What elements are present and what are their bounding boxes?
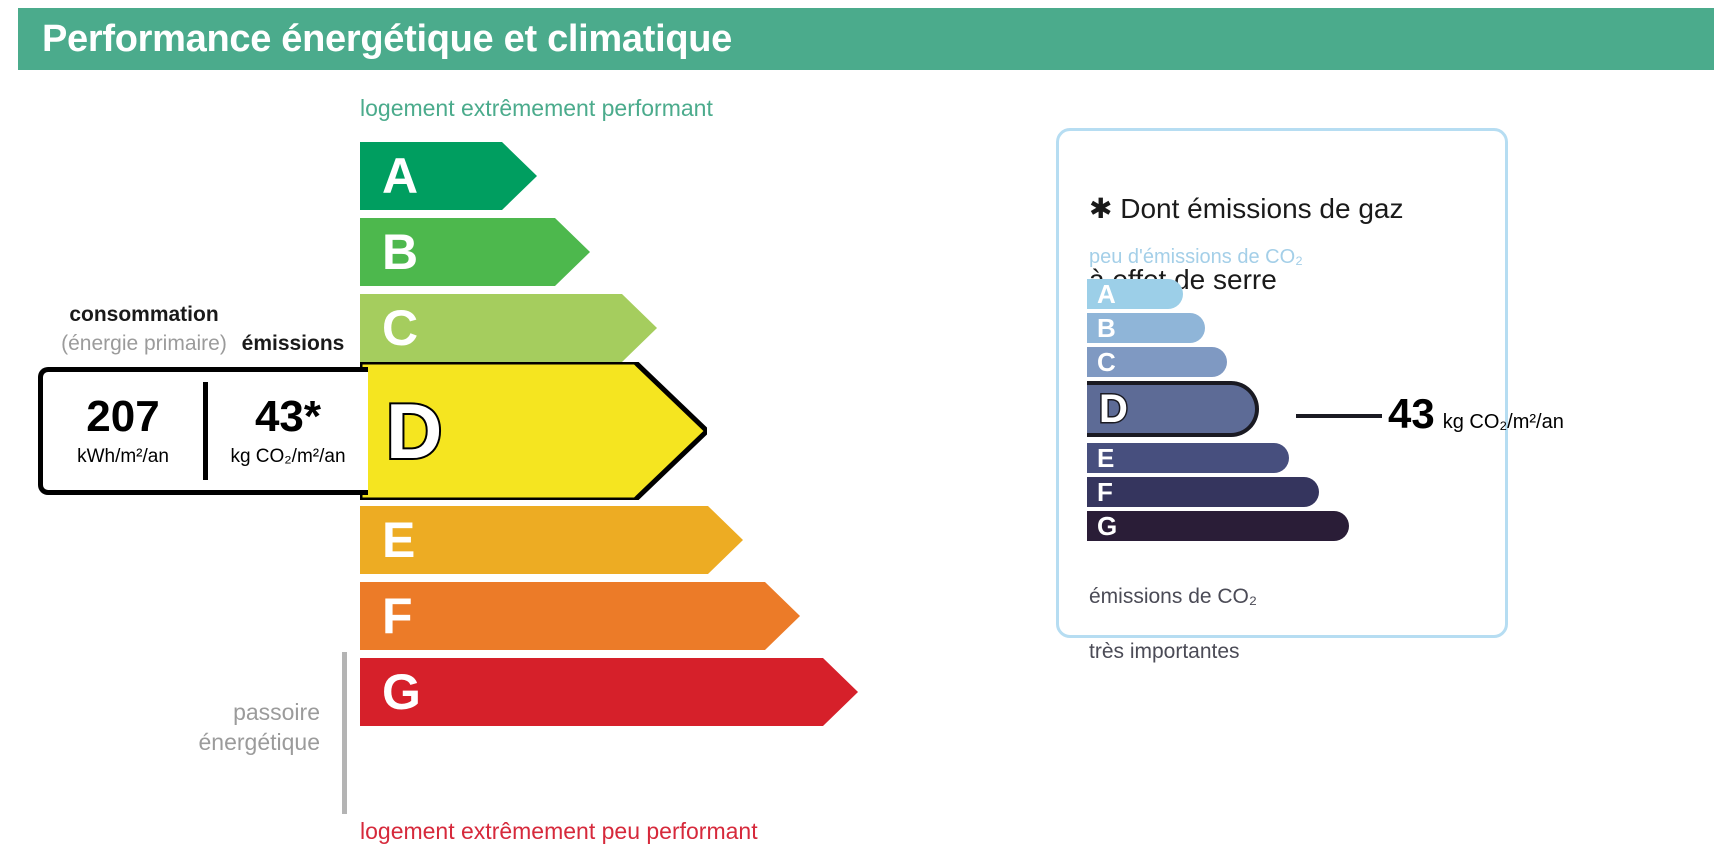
co2-bar-letter-c: C <box>1097 349 1116 375</box>
consumption-unit: kWh/m²/an <box>77 446 169 468</box>
energy-arrow-shape-e <box>360 506 743 574</box>
co2-bar-e[interactable]: E <box>1087 443 1289 473</box>
emission-value-cell: 43* kg CO₂/m²/an <box>208 372 368 490</box>
energy-bar-letter-e: E <box>382 515 415 565</box>
co2-bottom-caption-line2: très importantes <box>1089 638 1257 665</box>
co2-bar-letter-d: D <box>1099 389 1128 429</box>
energy-bar-g[interactable]: G <box>360 658 858 726</box>
passoire-bracket <box>342 652 347 814</box>
energy-bar-a[interactable]: A <box>360 142 537 210</box>
co2-bar-f[interactable]: F <box>1087 477 1319 507</box>
energy-arrow-shape-g <box>360 658 858 726</box>
energy-bar-letter-d: D <box>386 392 442 470</box>
consumption-value: 207 <box>86 394 159 440</box>
passoire-label-line2: énergétique <box>120 728 320 758</box>
co2-bar-letter-e: E <box>1097 445 1114 471</box>
scale-top-caption: logement extrêmement performant <box>360 95 713 122</box>
energy-bar-letter-a: A <box>382 151 418 201</box>
co2-bar-c[interactable]: C <box>1087 347 1227 377</box>
co2-callout-number: 43 <box>1388 390 1435 438</box>
co2-bar-a[interactable]: A <box>1087 279 1183 309</box>
value-readout-box: 207 kWh/m²/an 43* kg CO₂/m²/an <box>38 367 368 495</box>
consumption-value-cell: 207 kWh/m²/an <box>43 372 203 490</box>
passoire-label: passoire énergétique <box>120 698 320 758</box>
co2-bar-letter-g: G <box>1097 513 1117 539</box>
emission-unit: kg CO₂/m²/an <box>230 446 345 468</box>
co2-bar-g[interactable]: G <box>1087 511 1349 541</box>
co2-bottom-caption: émissions de CO₂ très importantes <box>1089 556 1257 692</box>
energy-arrow-shape-f <box>360 582 800 650</box>
energy-bar-d-selected[interactable]: D <box>360 362 707 500</box>
co2-bar-letter-f: F <box>1097 479 1113 505</box>
page-header: Performance énergétique et climatique <box>18 8 1714 70</box>
co2-callout: 43 kg CO₂/m²/an <box>1388 390 1564 438</box>
consumption-label: consommation <box>46 303 242 327</box>
co2-bar-letter-b: B <box>1097 315 1116 341</box>
energy-bar-b[interactable]: B <box>360 218 590 286</box>
emission-value: 43* <box>255 394 321 440</box>
energy-bar-letter-g: G <box>382 667 421 717</box>
scale-bottom-caption: logement extrêmement peu performant <box>360 818 758 845</box>
co2-bar-letter-a: A <box>1097 281 1116 307</box>
co2-panel-title-line1: ✱ Dont émissions de gaz <box>1089 191 1404 227</box>
co2-bar-b[interactable]: B <box>1087 313 1205 343</box>
passoire-label-line1: passoire <box>120 698 320 728</box>
co2-bottom-caption-line1: émissions de CO₂ <box>1089 583 1257 610</box>
energy-performance-scale: logement extrêmement performant consomma… <box>0 70 1030 850</box>
energy-bar-letter-f: F <box>382 591 413 641</box>
energy-bar-e[interactable]: E <box>360 506 743 574</box>
energy-bar-f[interactable]: F <box>360 582 800 650</box>
co2-emissions-panel: ✱ Dont émissions de gaz à effet de serre… <box>1056 128 1508 638</box>
co2-bar-d-selected[interactable]: D <box>1087 381 1259 437</box>
energy-bar-letter-b: B <box>382 227 418 277</box>
primary-energy-label: (énergie primaire) <box>26 332 262 356</box>
energy-bar-c[interactable]: C <box>360 294 657 362</box>
energy-bar-letter-c: C <box>382 303 418 353</box>
emissions-label: émissions <box>228 332 358 356</box>
co2-callout-leader-line <box>1296 414 1382 418</box>
co2-top-caption: peu d'émissions de CO₂ <box>1089 246 1303 269</box>
page-title: Performance énergétique et climatique <box>18 18 732 61</box>
co2-callout-unit: kg CO₂/m²/an <box>1443 411 1564 434</box>
